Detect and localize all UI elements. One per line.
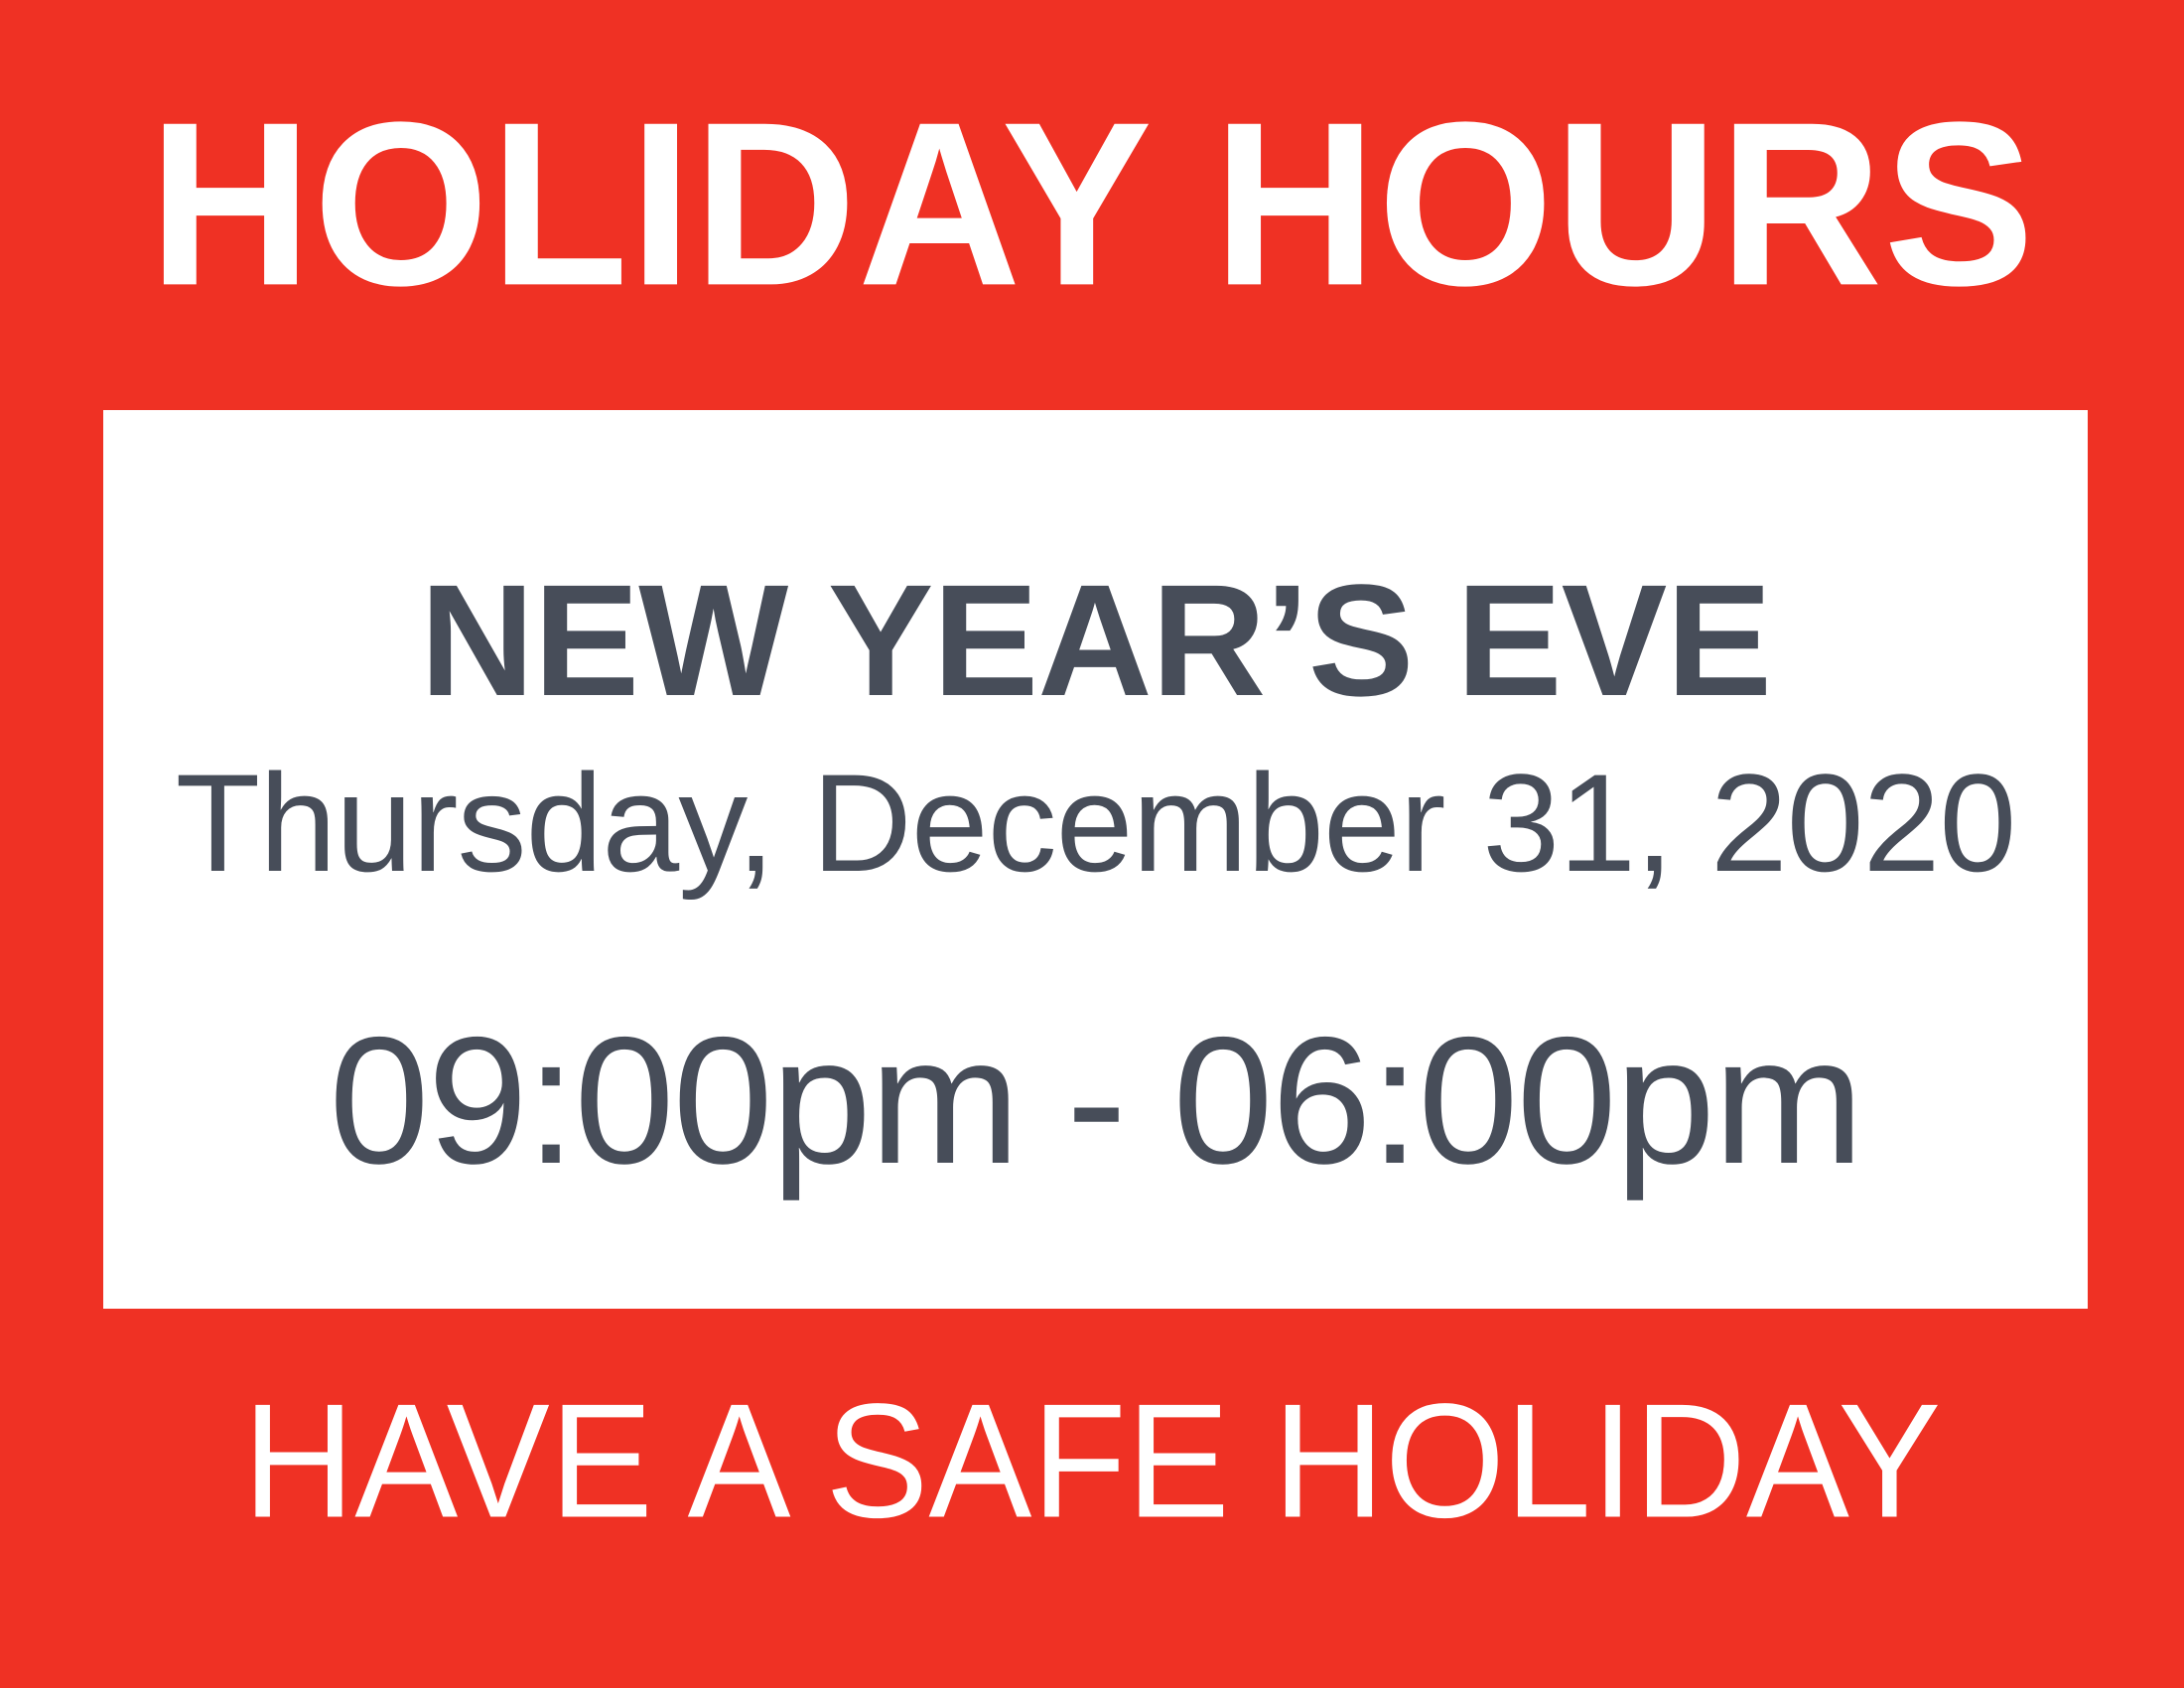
occasion-title: NEW YEAR’S EVE — [420, 561, 1771, 720]
footer-message: HAVE A SAFE HOLIDAY — [243, 1380, 1942, 1543]
occasion-date: Thursday, December 31, 2020 — [176, 754, 2016, 893]
holiday-hours-sign: HOLIDAY HOURS NEW YEAR’S EVE Thursday, D… — [0, 0, 2184, 1688]
hours-card: NEW YEAR’S EVE Thursday, December 31, 20… — [103, 410, 2088, 1309]
footer-banner: HAVE A SAFE HOLIDAY — [0, 1309, 2184, 1688]
operating-hours: 09:00pm - 06:00pm — [329, 1010, 1861, 1191]
headline-banner: HOLIDAY HOURS — [0, 0, 2184, 409]
page-title: HOLIDAY HOURS — [149, 88, 2036, 322]
